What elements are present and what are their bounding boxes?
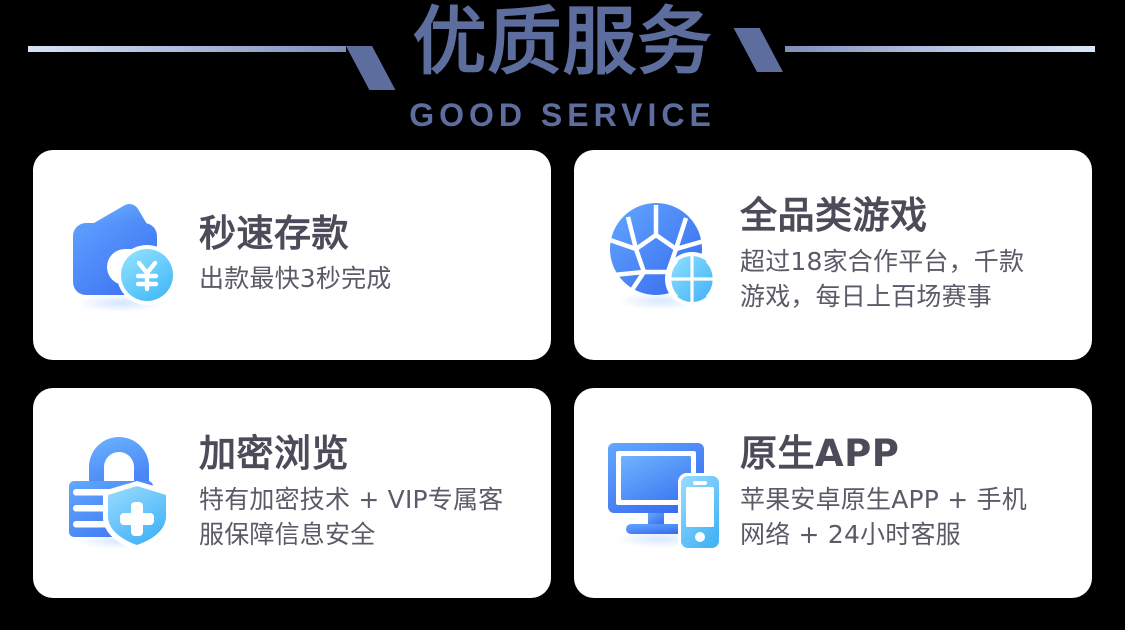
card-text-block: 加密浏览 特有加密技术 + VIP专属客 服保障信息安全 [199,433,529,552]
soccer-basketball-icon [600,191,728,319]
card-desc-line-2: 服保障信息安全 [199,517,529,553]
card-description: 出款最快3秒完成 [199,261,529,297]
page-title: 优质服务 [0,5,1125,79]
card-description: 苹果安卓原生APP + 手机 网络 + 24小时客服 [740,482,1070,553]
lock-shield-icon [59,429,187,557]
monitor-phone-icon [600,429,728,557]
card-title: 原生APP [740,433,1070,474]
feature-card-grid: 秒速存款 出款最快3秒完成 [33,150,1092,598]
wallet-yen-icon [59,191,187,319]
card-desc-line-2: 游戏，每日上百场赛事 [740,279,1070,315]
card-text-block: 秒速存款 出款最快3秒完成 [199,213,529,297]
feature-card-games[interactable]: 全品类游戏 超过18家合作平台，千款 游戏，每日上百场赛事 [574,150,1092,360]
page-header: 优质服务 GOOD SERVICE [0,0,1125,145]
card-desc-line-1: 超过18家合作平台，千款 [740,247,1024,276]
card-desc-line-2: 网络 + 24小时客服 [740,517,1070,553]
feature-card-deposit[interactable]: 秒速存款 出款最快3秒完成 [33,150,551,360]
card-description: 特有加密技术 + VIP专属客 服保障信息安全 [199,482,529,553]
card-desc-line-1: 苹果安卓原生APP + 手机 [740,485,1027,514]
card-title: 加密浏览 [199,433,529,474]
card-title: 全品类游戏 [740,195,1070,236]
card-desc-line-1: 出款最快3秒完成 [199,264,392,293]
card-desc-line-1: 特有加密技术 + VIP专属客 [199,485,503,514]
card-title: 秒速存款 [199,213,529,254]
card-text-block: 原生APP 苹果安卓原生APP + 手机 网络 + 24小时客服 [740,433,1070,552]
page-subtitle: GOOD SERVICE [0,97,1125,134]
card-description: 超过18家合作平台，千款 游戏，每日上百场赛事 [740,244,1070,315]
card-text-block: 全品类游戏 超过18家合作平台，千款 游戏，每日上百场赛事 [740,195,1070,314]
feature-card-encryption[interactable]: 加密浏览 特有加密技术 + VIP专属客 服保障信息安全 [33,388,551,598]
feature-card-native-app[interactable]: 原生APP 苹果安卓原生APP + 手机 网络 + 24小时客服 [574,388,1092,598]
